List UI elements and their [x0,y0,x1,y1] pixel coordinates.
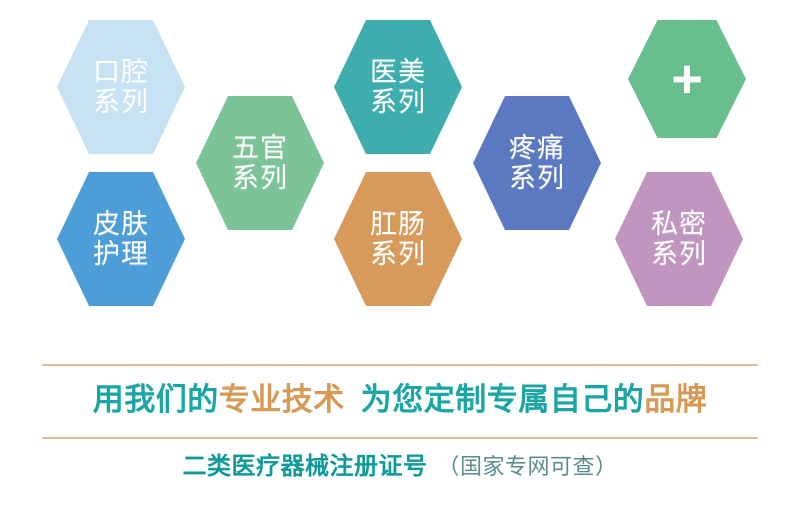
hexagon-oral[interactable]: 口腔系列 [57,20,185,154]
hexagon-label-line: 系列 [93,87,149,117]
hexagon-label-line: 口腔 [93,57,149,87]
headline-segment-1: 用我们的 [93,382,219,417]
hexagon-label-line: 护理 [93,239,149,269]
hexagon-label-line: 皮肤 [93,209,149,239]
poster-canvas: 口腔系列皮肤护理五官系列医美系列肛肠系列疼痛系列+私密系列 用我们的专业技术为您… [0,0,800,506]
hexagon-label-line: 系列 [370,87,426,117]
headline-segment-4: 品牌 [644,382,707,417]
hexagon-anorectal[interactable]: 肛肠系列 [334,172,462,306]
subline-note: （国家专网可查） [437,454,617,479]
hexagon-skin-care[interactable]: 皮肤护理 [57,172,185,306]
hexagon-label-line: 五官 [232,133,288,163]
hexagon-label-line: 系列 [232,163,288,193]
headline: 用我们的专业技术为您定制专属自己的品牌 [0,374,800,419]
plus-icon: + [671,52,703,106]
hexagon-label-line: 系列 [370,239,426,269]
hexagon-label-line: 肛肠 [370,209,426,239]
hexagon-private[interactable]: 私密系列 [615,172,743,306]
hexagon-grid: 口腔系列皮肤护理五官系列医美系列肛肠系列疼痛系列+私密系列 [0,0,800,350]
hexagon-pain[interactable]: 疼痛系列 [473,96,601,230]
divider-bottom [42,437,758,439]
hexagon-ent[interactable]: 五官系列 [196,96,324,230]
hexagon-label-line: 私密 [651,209,707,239]
hexagon-label-line: 系列 [651,239,707,269]
hexagon-label-line: 医美 [370,57,426,87]
subline-main: 二类医疗器械注册证号 [182,453,427,480]
subline: 二类医疗器械注册证号（国家专网可查） [0,446,800,481]
hexagon-label-line: 系列 [509,163,565,193]
hexagon-add-more[interactable]: + [628,20,746,138]
headline-segment-3: 为您定制专属自己的 [361,382,645,417]
hexagon-medical-beauty[interactable]: 医美系列 [334,20,462,154]
divider-top [42,364,758,366]
hexagon-label-line: 疼痛 [509,133,565,163]
headline-segment-2: 专业技术 [219,382,345,417]
tagline-block: 用我们的专业技术为您定制专属自己的品牌 二类医疗器械注册证号（国家专网可查） [0,350,800,506]
